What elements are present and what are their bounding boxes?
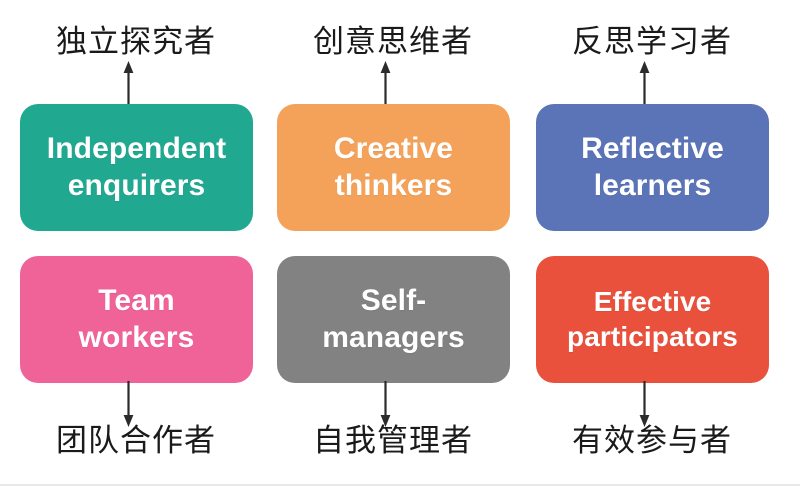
arrow-down-icon-effective-participators — [637, 381, 652, 427]
chinese-caption-team-workers: 团队合作者 — [3, 425, 269, 456]
diagram-cell-team-workers: Team workers 团队合作者 — [3, 0, 269, 486]
arrow-down-icon-self-managers — [378, 381, 393, 427]
skill-box-label-self-managers: Self- managers — [322, 283, 465, 356]
skill-box-label-team-workers: Team workers — [79, 283, 195, 356]
chinese-caption-self-managers: 自我管理者 — [260, 425, 526, 456]
skill-box-effective-participators[interactable]: Effective participators — [536, 256, 769, 383]
skills-diagram: 独立探究者 Independent enquirers 创意思维者 Creati… — [0, 0, 800, 486]
skill-box-self-managers[interactable]: Self- managers — [277, 256, 510, 383]
chinese-caption-effective-participators: 有效参与者 — [519, 425, 785, 456]
arrow-down-icon-team-workers — [121, 381, 136, 427]
diagram-cell-self-managers: Self- managers 自我管理者 — [260, 0, 526, 486]
skill-box-team-workers[interactable]: Team workers — [20, 256, 253, 383]
skill-box-label-effective-participators: Effective participators — [567, 285, 738, 353]
diagram-cell-effective-participators: Effective participators 有效参与者 — [519, 0, 785, 486]
